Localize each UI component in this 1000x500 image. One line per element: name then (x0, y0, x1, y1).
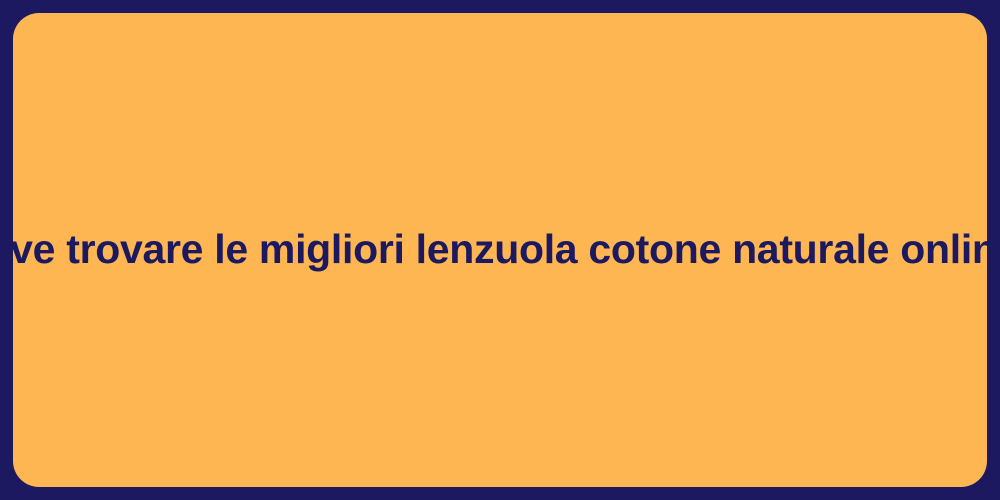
banner-panel: Dove trovare le migliori lenzuola cotone… (13, 13, 987, 487)
banner-frame: Dove trovare le migliori lenzuola cotone… (0, 0, 1000, 500)
page-title: Dove trovare le migliori lenzuola cotone… (13, 226, 987, 273)
heading-container: Dove trovare le migliori lenzuola cotone… (13, 226, 987, 273)
